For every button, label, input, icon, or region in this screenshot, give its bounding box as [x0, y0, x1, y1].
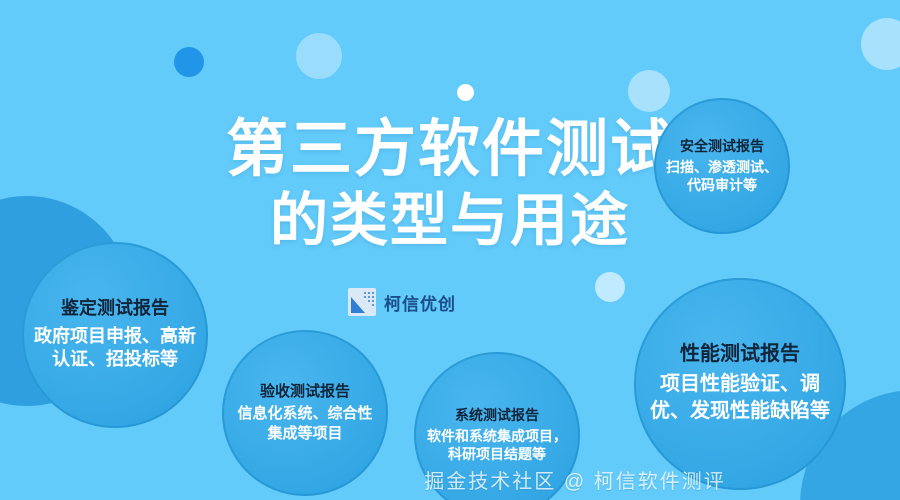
bubble-title-acceptance: 验收测试报告: [260, 383, 350, 401]
bubble-desc-appraisal: 政府项目申报、高新认证、招投标等: [34, 325, 196, 372]
triangle-dotted-logo-icon: [348, 288, 376, 316]
bubble-title-performance: 性能测试报告: [680, 343, 800, 367]
bubble-desc-acceptance: 信息化系统、综合性集成等项目: [234, 404, 376, 443]
decorative-circle-mid-right: [595, 272, 625, 302]
bubble-title-system: 系统测试报告: [455, 407, 539, 424]
bubble-desc-security: 扫描、渗透测试、代码审计等: [666, 158, 778, 194]
brand-lockup: 柯信优创: [348, 288, 456, 316]
bubble-desc-performance: 项目性能验证、调优、发现性能缺陷等: [648, 371, 832, 425]
decorative-dot-white: [457, 84, 474, 101]
bubble-security-test-report[interactable]: 安全测试报告 扫描、渗透测试、代码审计等: [654, 98, 790, 234]
decorative-dot-dark-blue: [174, 47, 204, 77]
decorative-circle-upper-mid: [628, 70, 670, 112]
poster-canvas: 第三方软件测试 的类型与用途 柯信优创 安全测试报告 扫描、渗透测试、代码审计等…: [0, 0, 900, 500]
bubble-appraisal-test-report[interactable]: 鉴定测试报告 政府项目申报、高新认证、招投标等: [22, 242, 208, 428]
bubble-title-security: 安全测试报告: [680, 138, 764, 155]
watermark-credit: 掘金技术社区 @ 柯信软件测评: [0, 465, 900, 494]
bubble-desc-system: 软件和系统集成项目，科研项目结题等: [424, 427, 570, 463]
decorative-circle-top-left: [296, 33, 342, 79]
bubble-performance-test-report[interactable]: 性能测试报告 项目性能验证、调优、发现性能缺陷等: [634, 278, 846, 490]
brand-name: 柯信优创: [384, 290, 456, 315]
bubble-title-appraisal: 鉴定测试报告: [61, 298, 169, 319]
decorative-circle-top-right: [861, 18, 900, 70]
